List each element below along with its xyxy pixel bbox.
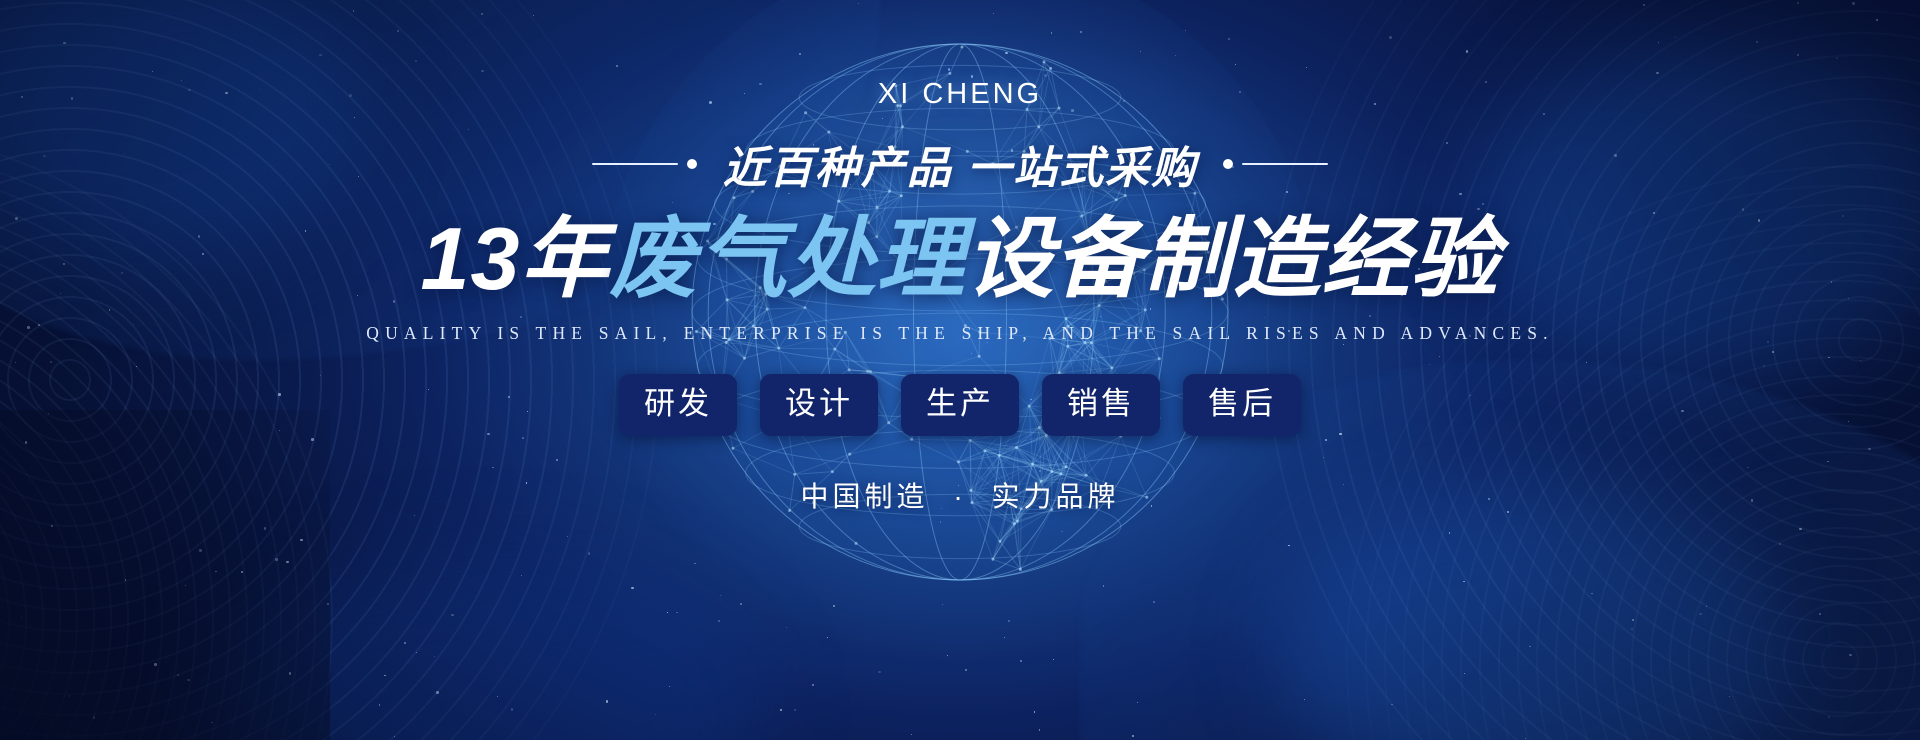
footnote-right-text: 实力品牌: [991, 481, 1119, 512]
headline-part-tail: 设备制造经验: [965, 209, 1499, 308]
banner-content: XI CHENG 近百种产品 一站式采购 13年废气处理设备制造经验 QUALI…: [0, 0, 1920, 740]
service-pill[interactable]: 设计: [760, 374, 878, 437]
service-pill[interactable]: 研发: [619, 374, 737, 437]
subtitle-text: 近百种产品 一站式采购: [723, 132, 1197, 196]
rule-line-right: [1242, 163, 1328, 165]
rule-line-left: [592, 163, 678, 165]
headline-part-years: 13年: [421, 209, 610, 308]
rule-dot-left: [687, 159, 697, 169]
tagline-english: QUALITY IS THE SAIL, ENTERPRISE IS THE S…: [366, 323, 1554, 344]
decorative-rule-left: [592, 159, 697, 169]
brand-name-english: XI CHENG: [878, 78, 1042, 111]
headline-part-highlight: 废气处理: [609, 209, 965, 308]
service-pill[interactable]: 售后: [1183, 374, 1301, 437]
service-pill-list: 研发设计生产销售售后: [619, 374, 1301, 437]
footnote-left-text: 中国制造: [801, 481, 929, 512]
service-pill[interactable]: 生产: [901, 374, 1019, 437]
subtitle-row: 近百种产品 一站式采购: [592, 132, 1328, 196]
footnote-separator: ·: [953, 481, 966, 512]
hero-banner: XI CHENG 近百种产品 一站式采购 13年废气处理设备制造经验 QUALI…: [0, 0, 1920, 740]
rule-dot-right: [1223, 159, 1233, 169]
footnote: 中国制造 · 实力品牌: [801, 475, 1120, 515]
headline: 13年废气处理设备制造经验: [421, 210, 1500, 309]
service-pill[interactable]: 销售: [1042, 374, 1160, 437]
decorative-rule-right: [1223, 159, 1328, 169]
